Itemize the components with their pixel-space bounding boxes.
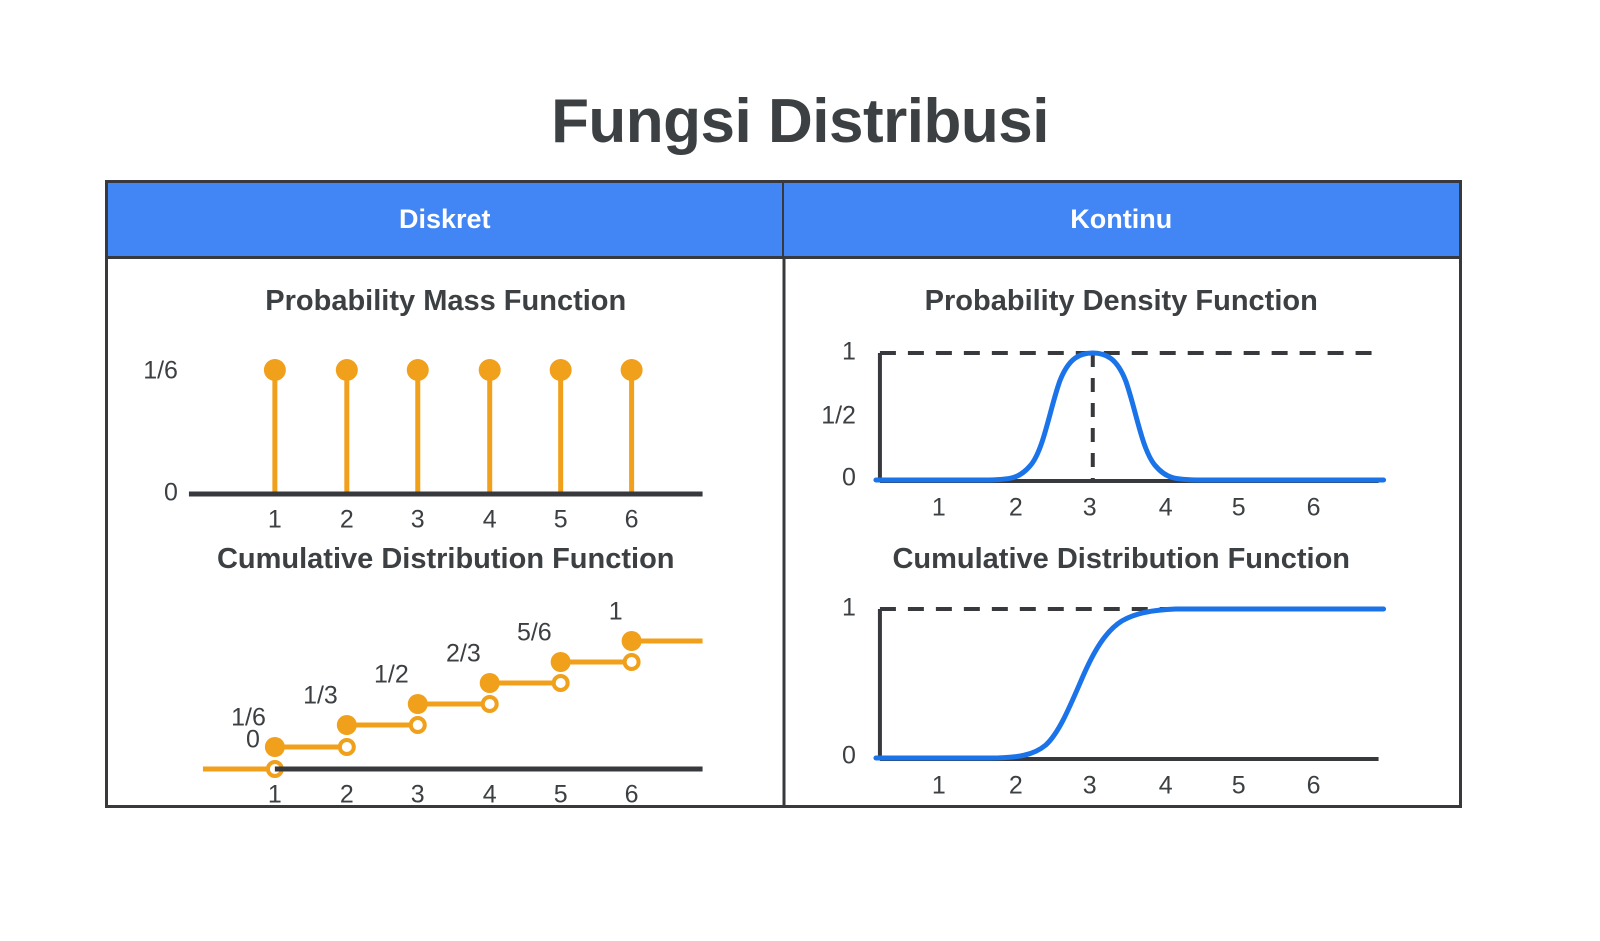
cdf-discrete-open-4: [554, 676, 568, 690]
table-header-kontinu: Kontinu: [784, 183, 1460, 259]
cdf-discrete-chart: 0 1/6 1/3: [108, 259, 784, 808]
slide-canvas: Fungsi Distribusi Diskret Kontinu Probab…: [0, 0, 1600, 941]
cdf-discrete-open-2: [411, 718, 425, 732]
cdf-continuous-xtick-4: 4: [1158, 772, 1172, 800]
cdf-discrete-open-5: [625, 655, 639, 669]
cdf-discrete-xtick-3: 3: [411, 781, 425, 808]
cdf-continuous-xtick-2: 2: [1008, 772, 1022, 800]
table-header-diskret: Diskret: [108, 183, 784, 259]
cell-kontinu: Probability Density Function 1 1/2 0: [784, 259, 1460, 808]
cdf-discrete-label-1: 1/6: [231, 704, 266, 732]
cdf-discrete-dot-4: [480, 673, 500, 693]
cdf-discrete-xtick-5: 5: [554, 781, 568, 808]
table-header-diskret-label: Diskret: [399, 204, 491, 235]
table-header-kontinu-label: Kontinu: [1070, 204, 1172, 235]
cdf-continuous-xtick-3: 3: [1082, 772, 1096, 800]
column-divider: [782, 259, 785, 808]
cdf-continuous-xtick-6: 6: [1306, 772, 1320, 800]
cdf-discrete-steps: 0 1/6 1/3: [203, 598, 703, 776]
cdf-continuous-xtick-1: 1: [931, 772, 945, 800]
cdf-discrete-label-3: 1/2: [374, 661, 409, 689]
cdf-discrete-label-5: 5/6: [517, 619, 552, 647]
cdf-discrete-dot-6: [622, 631, 642, 651]
cell-diskret: Probability Mass Function 1/6 0: [108, 259, 784, 808]
cdf-discrete-dot-2: [337, 715, 357, 735]
table-header-row: Diskret Kontinu: [108, 183, 1459, 259]
cdf-discrete-label-4: 2/3: [446, 640, 481, 668]
cdf-continuous-xtick-5: 5: [1231, 772, 1245, 800]
cdf-continuous-ytick-1: 1: [842, 594, 856, 622]
cdf-discrete-dot-1: [265, 737, 285, 757]
cdf-continuous-curve: [875, 609, 1383, 758]
comparison-table: Diskret Kontinu Probability Mass Functio…: [105, 180, 1462, 808]
cdf-discrete-xtick-1: 1: [268, 781, 282, 808]
cdf-continuous-ytick-0: 0: [842, 742, 856, 770]
cdf-discrete-label-6: 1: [609, 598, 623, 626]
cdf-discrete-xtick-6: 6: [625, 781, 639, 808]
cdf-discrete-open-1: [340, 740, 354, 754]
cdf-continuous-chart: 1 0 1 2 3 4 5 6: [784, 259, 1460, 808]
page-title: Fungsi Distribusi: [0, 86, 1600, 157]
cdf-discrete-dot-5: [551, 652, 571, 672]
cdf-discrete-open-3: [483, 697, 497, 711]
cdf-discrete-dot-3: [408, 694, 428, 714]
cdf-discrete-xtick-4: 4: [483, 781, 497, 808]
cdf-discrete-xtick-2: 2: [340, 781, 354, 808]
cdf-discrete-label-2: 1/3: [303, 682, 338, 710]
